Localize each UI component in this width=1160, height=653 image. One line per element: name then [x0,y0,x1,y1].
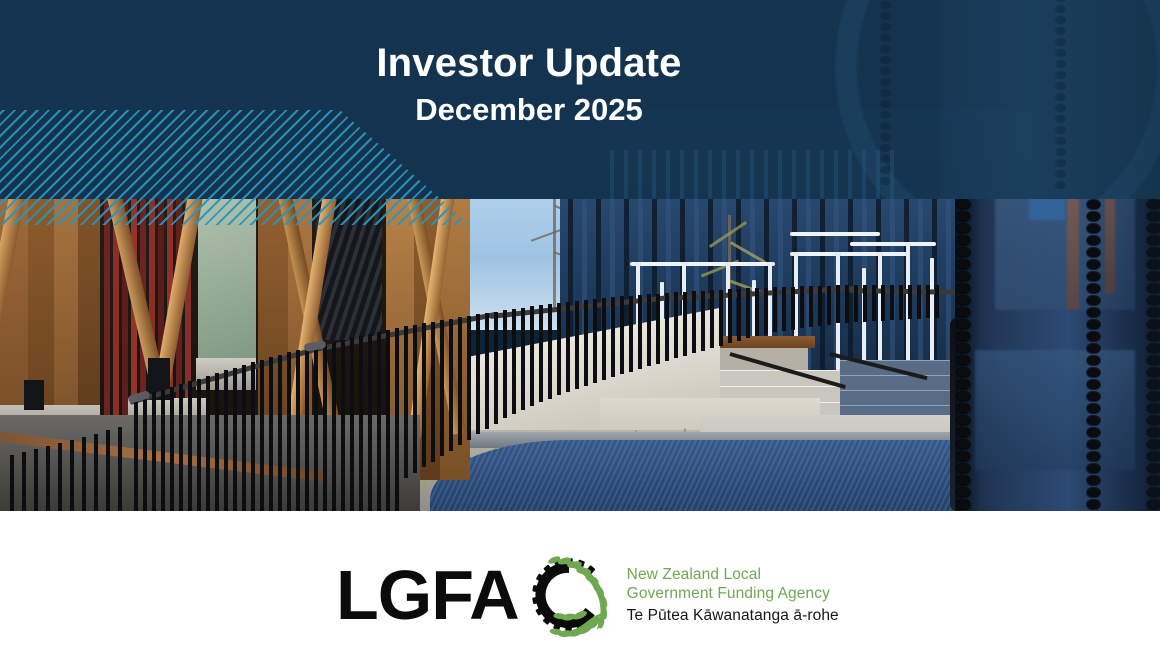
lgfa-wordmark: LGFA [336,563,519,627]
investor-update-cover-slide: Investor Update December 2025 LGFA [0,0,1160,653]
header-ghost-fins [610,150,910,199]
tank-bolt-row [1147,150,1160,511]
logo-line-2: Government Funding Agency [627,584,839,603]
logo-line-1: New Zealand Local [627,565,839,584]
lgfa-logo-text: New Zealand Local Government Funding Age… [627,565,839,625]
tank-bolt-row [1087,150,1103,511]
cover-photo: Investor Update December 2025 [0,0,1160,511]
fence-rail [490,295,670,319]
title-block: Investor Update December 2025 [0,0,1058,128]
cog-and-fern-mark [523,549,615,641]
tank-reflection-blue [1029,198,1065,220]
bolted-steel-tank [955,150,1160,511]
fence-rail [129,348,313,405]
page-title: Investor Update [0,40,1058,86]
lgfa-logo: LGFA [336,549,839,641]
tank-reflection-light [975,350,1135,470]
logo-line-3: Te Pūtea Kāwanatanga ā-rohe [627,606,839,625]
tank-bolt-row [957,150,973,511]
footer-logo-band: LGFA [0,511,1160,653]
